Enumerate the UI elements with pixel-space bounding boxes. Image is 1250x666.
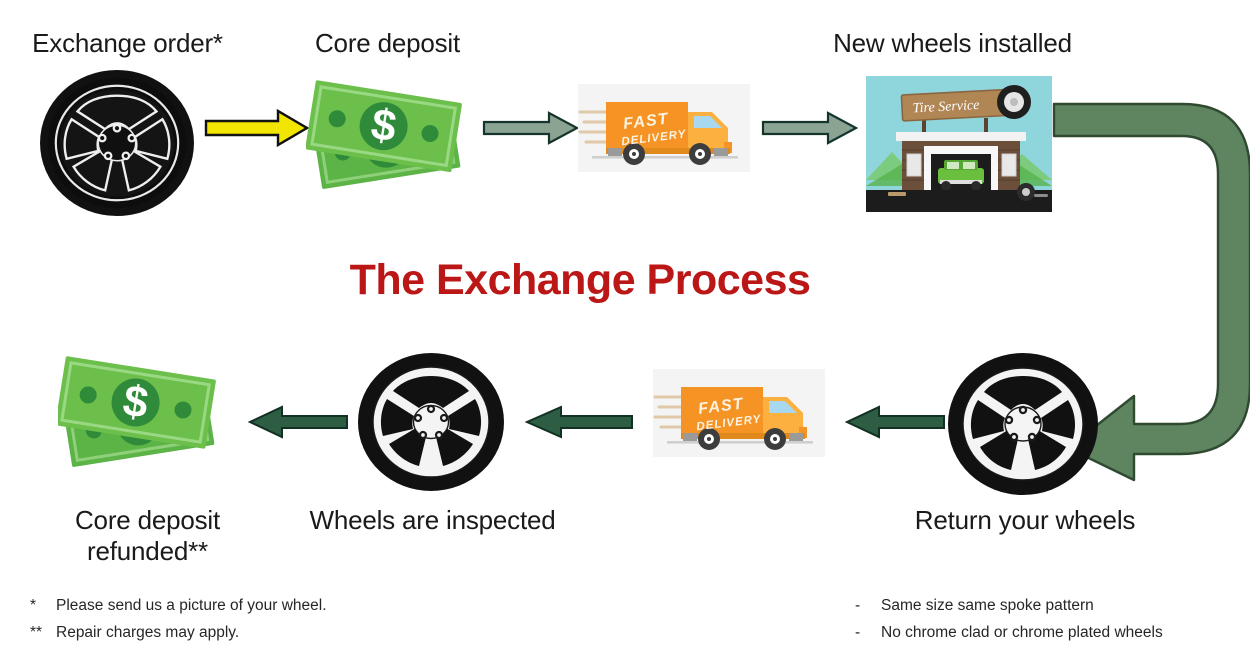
exchange-process-diagram: Exchange order* Core deposit New wheels … (0, 0, 1250, 666)
requirement-bullet: - (855, 619, 881, 646)
arrow-ship-to-inspect (525, 404, 633, 440)
fast-delivery-truck-icon: FAST DELIVERY (578, 84, 750, 172)
step-label-new-wheels-installed: New wheels installed (805, 28, 1100, 59)
arrow-order-to-deposit (204, 108, 309, 148)
requirement-text: No chrome clad or chrome plated wheels (881, 619, 1163, 646)
arrow-inspect-to-refund (248, 404, 348, 440)
footnotes-left: * Please send us a picture of your wheel… (30, 592, 327, 646)
tire-service-shop-icon: Tire Service (866, 76, 1052, 212)
requirement-text: Same size same spoke pattern (881, 592, 1094, 619)
cash-money-icon: $ $ (306, 72, 478, 212)
requirement-item: - Same size same spoke pattern (855, 592, 1163, 619)
step-label-core-deposit: Core deposit (280, 28, 495, 59)
alloy-wheel-icon (38, 68, 196, 218)
footnotes-right: - Same size same spoke pattern - No chro… (855, 592, 1163, 646)
arrow-return-to-ship (845, 404, 945, 440)
footnote-item: ** Repair charges may apply. (30, 619, 327, 646)
footnote-mark: ** (30, 619, 56, 646)
alloy-wheel-icon-return (947, 352, 1099, 496)
step-label-core-deposit-refunded: Core deposit refunded** (20, 505, 275, 566)
footnote-text: Repair charges may apply. (56, 619, 239, 646)
footnote-item: * Please send us a picture of your wheel… (30, 592, 327, 619)
footnote-text: Please send us a picture of your wheel. (56, 592, 327, 619)
alloy-wheel-icon-inspected (357, 352, 505, 493)
page-title: The Exchange Process (0, 256, 1160, 305)
requirement-bullet: - (855, 592, 881, 619)
arrow-ship-to-install (762, 110, 858, 146)
requirement-item: - No chrome clad or chrome plated wheels (855, 619, 1163, 646)
step-label-return-your-wheels: Return your wheels (885, 505, 1165, 536)
cash-money-icon-refund: $ $ (58, 348, 238, 490)
arrow-deposit-to-ship (483, 110, 579, 146)
footnote-mark: * (30, 592, 56, 619)
step-label-wheels-inspected: Wheels are inspected (295, 505, 570, 536)
fast-delivery-truck-icon-return: FAST DELIVERY (653, 369, 825, 457)
step-label-exchange-order: Exchange order* (0, 28, 255, 59)
